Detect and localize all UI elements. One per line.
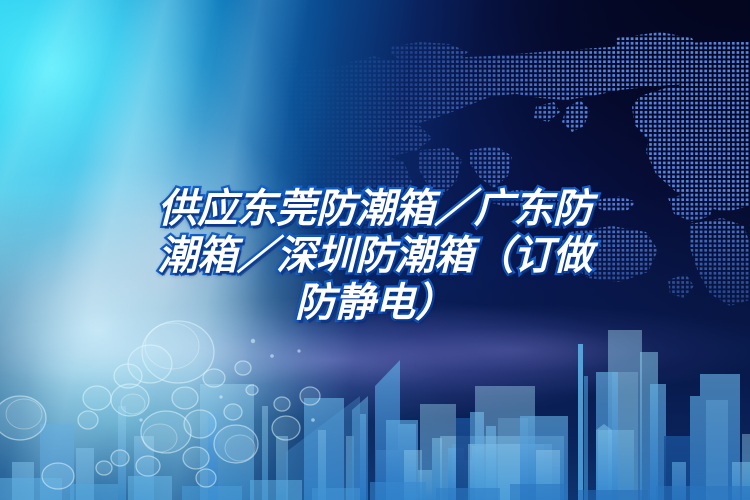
promo-banner: 供应东莞防潮箱／广东防 潮箱／深圳防潮箱（订做 防静电）	[0, 0, 750, 500]
headline-line-3: 防静电）	[95, 280, 655, 327]
headline-line-1: 供应东莞防潮箱／广东防	[95, 186, 655, 233]
headline: 供应东莞防潮箱／广东防 潮箱／深圳防潮箱（订做 防静电）	[95, 186, 655, 327]
headline-line-2: 潮箱／深圳防潮箱（订做	[95, 233, 655, 280]
